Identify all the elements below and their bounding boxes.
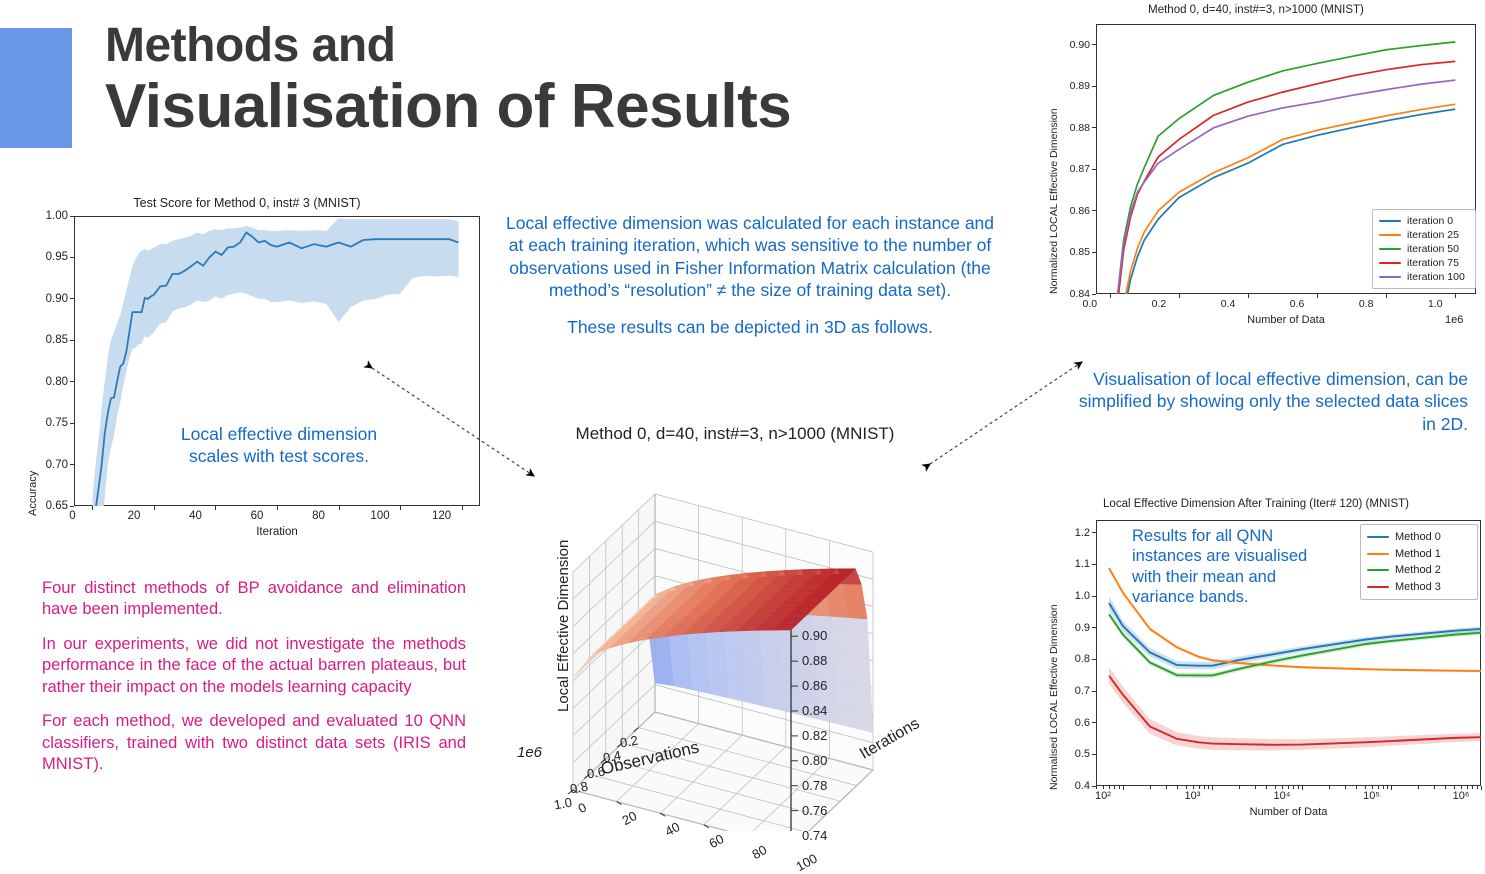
chart3-ytick: 1.2 [1046,527,1090,539]
legend-row: Method 2 [1367,562,1471,579]
chart3-minor-tick [1467,786,1468,789]
legend-row: iteration 100 [1379,270,1469,284]
surface-ztick: 0.90 [802,628,827,643]
chart2-ytick: 0.87 [1046,163,1090,175]
chart3-minor-tick [1119,786,1120,789]
chart-test-score-ytickmark [70,298,74,299]
chart2-xtickmark [1317,294,1318,298]
legend-row: Method 0 [1367,529,1471,546]
chart3-xtickmark [1302,786,1303,790]
chart3-minor-tick [1387,786,1388,789]
chart3-minor-tick [1186,786,1187,789]
chart3-minor-tick [1103,786,1104,789]
legend-label-3: iteration 75 [1407,257,1459,269]
legend-swatch-2 [1379,248,1401,250]
note-br-line3: with their mean and [1132,567,1382,587]
chart-local-ed-after-training: Local Effective Dimension After Training… [1030,498,1482,828]
chart3-minor-tick [1114,786,1115,789]
surface-ztick: 0.76 [802,803,827,818]
legend-label-2: Method 2 [1395,564,1441,576]
chart-test-score-ytickmark [70,340,74,341]
chart-local-ed-iterations-xlabel: Number of Data [1096,314,1476,326]
legend-label-3: Method 3 [1395,581,1441,593]
chart2-xtick: 0.2 [1139,298,1179,310]
legend-row: iteration 50 [1379,242,1469,256]
chart3-ytickmark [1092,564,1096,565]
chart2-xtick: 0.0 [1070,298,1110,310]
chart-test-score-xtick: 60 [237,510,277,522]
chart2-ytick: 0.86 [1046,205,1090,217]
body-text-methods: Four distinct methods of BP avoidance an… [42,578,466,789]
chart2-ytickmark [1092,252,1096,253]
chart3-minor-tick [1275,786,1276,789]
chart2-xtick: 1.0 [1415,298,1455,310]
legend-label-2: iteration 50 [1407,243,1459,255]
chart-test-score-xtickmark [154,506,155,510]
legend-swatch-1 [1379,234,1401,236]
chart-test-score-title: Test Score for Method 0, inst# 3 (MNIST) [14,196,480,210]
note-left-chart-line1: Local effective dimension [134,424,424,446]
accent-square [0,28,72,148]
page-title: Methods and Visualisation of Results [105,22,1005,138]
note-center: Local effective dimension was calculated… [500,212,1000,338]
chart3-minor-tick [1204,786,1205,789]
surface-ztick: 0.78 [802,778,827,793]
chart3-xtickmark [1212,786,1213,790]
chart3-xtick: 10⁴ [1262,790,1302,802]
chart-local-ed-iterations-x-exponent: 1e6 [1445,314,1463,326]
chart2-xtickmark [1386,294,1387,298]
chart2-ytickmark [1092,44,1096,45]
chart-local-ed-iterations: Method 0, d=40, inst#=3, n>1000 (MNIST) … [1030,4,1482,334]
chart-test-score-ytick: 0.75 [22,417,68,429]
chart3-minor-tick [1445,786,1446,789]
legend-swatch-0 [1379,220,1401,222]
legend-label-4: iteration 100 [1407,271,1465,283]
chart3-ytick: 1.1 [1046,558,1090,570]
chart3-minor-tick [1150,786,1151,789]
chart2-xtick: 0.8 [1346,298,1386,310]
note-center-para2: These results can be depicted in 3D as f… [500,316,1000,338]
note-bottom-right-chart: Results for all QNN instances are visual… [1132,526,1382,608]
chart-test-score-xtickmark [277,506,278,510]
chart3-xtick: 10³ [1172,790,1212,802]
surface-ztick: 0.84 [802,703,827,718]
chart3-ytickmark [1092,596,1096,597]
chart3-minor-tick [1418,786,1419,789]
legend-label-0: Method 0 [1395,531,1441,543]
chart3-minor-tick [1365,786,1366,789]
chart3-ytickmark [1092,659,1096,660]
chart3-xtick: 10⁵ [1351,790,1391,802]
chart3-xtick: 10⁶ [1441,790,1481,802]
chart-test-score-xtick: 80 [299,510,339,522]
chart3-minor-tick [1372,786,1373,789]
chart3-minor-tick [1356,786,1357,789]
chart2-xtick: 0.4 [1208,298,1248,310]
chart-test-score-xtickmark [92,506,93,510]
chart2-xtickmark [1248,294,1249,298]
chart-test-score-ytick: 0.95 [22,251,68,263]
chart3-minor-tick [1472,786,1473,789]
legend-row: iteration 75 [1379,256,1469,270]
note-left-chart-line2: scales with test scores. [134,446,424,468]
chart3-ytickmark [1092,532,1096,533]
note-left-chart: Local effective dimension scales with te… [134,424,424,468]
chart3-minor-tick [1383,786,1384,789]
chart3-ytick: 1.0 [1046,590,1090,602]
chart2-ytick: 0.85 [1046,246,1090,258]
pink-para-1: Four distinct methods of BP avoidance an… [42,578,466,621]
chart2-ytickmark [1092,127,1096,128]
chart-test-score-xtick: 40 [175,510,215,522]
chart3-minor-tick [1177,786,1178,789]
chart-test-score-ytick: 0.85 [22,334,68,346]
surface-ztick: 0.80 [802,753,827,768]
chart3-ytickmark [1092,754,1096,755]
chart-local-ed-iterations-legend[interactable]: iteration 0iteration 25iteration 50itera… [1372,209,1476,289]
chart-test-score-xtick: 0 [52,510,92,522]
legend-swatch-4 [1379,276,1401,278]
chart-test-score-ytickmark [70,464,74,465]
chart-test-score-ytickmark [70,506,74,507]
chart2-ytickmark [1092,169,1096,170]
pink-para-2: In our experiments, we did not investiga… [42,634,466,698]
chart3-xtickmark [1481,786,1482,790]
chart-local-ed-after-training-title: Local Effective Dimension After Training… [1030,498,1482,510]
chart3-xtickmark [1123,786,1124,790]
surface-ztick: 0.88 [802,653,827,668]
chart-test-score-ytick: 0.80 [22,376,68,388]
chart-test-score-xtickmark [215,506,216,510]
chart-test-score-xtick: 100 [360,510,400,522]
chart3-ytick: 0.8 [1046,653,1090,665]
chart-test-score-ytick: 0.90 [22,293,68,305]
chart-test-score-xlabel: Iteration [74,526,480,538]
legend-label-1: iteration 25 [1407,229,1459,241]
chart3-minor-tick [1461,786,1462,789]
chart2-ytick: 0.88 [1046,122,1090,134]
chart3-minor-tick [1298,786,1299,789]
chart-test-score-xtickmark [400,506,401,510]
chart2-xtickmark [1179,294,1180,298]
chart3-minor-tick [1282,786,1283,789]
chart-test-score-ytick: 0.70 [22,459,68,471]
legend-label-1: Method 1 [1395,548,1441,560]
legend-label-0: iteration 0 [1407,215,1453,227]
chart2-xtickmark [1110,294,1111,298]
chart3-ytick: 0.7 [1046,685,1090,697]
chart2-ytickmark [1092,210,1096,211]
pink-para-3: For each method, we developed and evalua… [42,711,466,775]
chart3-ytickmark [1092,691,1096,692]
chart3-minor-tick [1109,786,1110,789]
chart3-ytick: 0.9 [1046,622,1090,634]
chart-test-score-ytickmark [70,381,74,382]
chart2-ytickmark [1092,86,1096,87]
chart3-minor-tick [1096,786,1097,789]
chart-test-score-xtickmark [339,506,340,510]
chart3-minor-tick [1239,786,1240,789]
surface-x-exponent: 1e6 [517,744,542,761]
legend-row: iteration 25 [1379,228,1469,242]
chart3-minor-tick [1166,786,1167,789]
note-br-line1: Results for all QNN [1132,526,1382,546]
chart3-minor-tick [1288,786,1289,789]
chart-test-score-ytick: 1.00 [22,210,68,222]
title-line-2: Visualisation of Results [105,76,1005,138]
chart3-minor-tick [1255,786,1256,789]
legend-row: Method 3 [1367,579,1471,596]
chart3-minor-tick [1434,786,1435,789]
chart3-minor-tick [1293,786,1294,789]
chart-test-score-ytickmark [70,257,74,258]
chart3-ytick: 0.5 [1046,748,1090,760]
chart3-xtickmark [1391,786,1392,790]
chart2-ytick: 0.90 [1046,39,1090,51]
chart2-ytick: 0.89 [1046,80,1090,92]
chart-test-score-ytickmark [70,216,74,217]
chart-test-score-xtick: 120 [422,510,462,522]
surface-ytick: 100 [793,845,830,874]
chart3-minor-tick [1454,786,1455,789]
chart-local-ed-after-training-xlabel: Number of Data [1096,806,1481,818]
chart3-minor-tick [1193,786,1194,789]
chart-local-ed-iterations-title: Method 0, d=40, inst#=3, n>1000 (MNIST) [1030,4,1482,16]
surface-ztick: 0.82 [802,728,827,743]
chart3-minor-tick [1329,786,1330,789]
chart3-minor-tick [1199,786,1200,789]
chart3-xtick: 10² [1083,790,1123,802]
chart3-minor-tick [1477,786,1478,789]
legend-row: Method 1 [1367,546,1471,563]
chart2-xtick: 0.6 [1277,298,1317,310]
legend-swatch-3 [1379,262,1401,264]
note-br-line2: instances are visualised [1132,546,1382,566]
surface-ytick: 80 [750,833,787,862]
chart3-minor-tick [1266,786,1267,789]
chart3-ytickmark [1092,722,1096,723]
surface-ztick: 0.74 [802,828,827,843]
note-br-line4: variance bands. [1132,587,1382,607]
chart3-minor-tick [1378,786,1379,789]
chart3-minor-tick [1208,786,1209,789]
chart3-ytickmark [1092,627,1096,628]
chart-surface-3d: Method 0, d=40, inst#=3, n>1000 (MNIST) … [495,412,1030,831]
chart-test-score-ytickmark [70,423,74,424]
chart3-minor-tick [1345,786,1346,789]
chart-test-score: Test Score for Method 0, inst# 3 (MNIST)… [14,196,480,542]
chart-test-score-xtick: 20 [114,510,154,522]
chart2-ytickmark [1092,294,1096,295]
note-right-text: Visualisation of local effective dimensi… [1068,368,1468,435]
chart-local-ed-iterations-ylabel: Normalized LOCAL Effective Dimension [1048,108,1060,294]
note-right: Visualisation of local effective dimensi… [1068,368,1468,435]
surface-ztick: 0.86 [802,678,827,693]
title-line-1: Methods and [105,22,1005,70]
chart2-xtickmark [1455,294,1456,298]
legend-row: iteration 0 [1379,214,1469,228]
chart3-ytick: 0.6 [1046,717,1090,729]
note-center-para1: Local effective dimension was calculated… [500,212,1000,302]
chart-test-score-xtickmark [462,506,463,510]
